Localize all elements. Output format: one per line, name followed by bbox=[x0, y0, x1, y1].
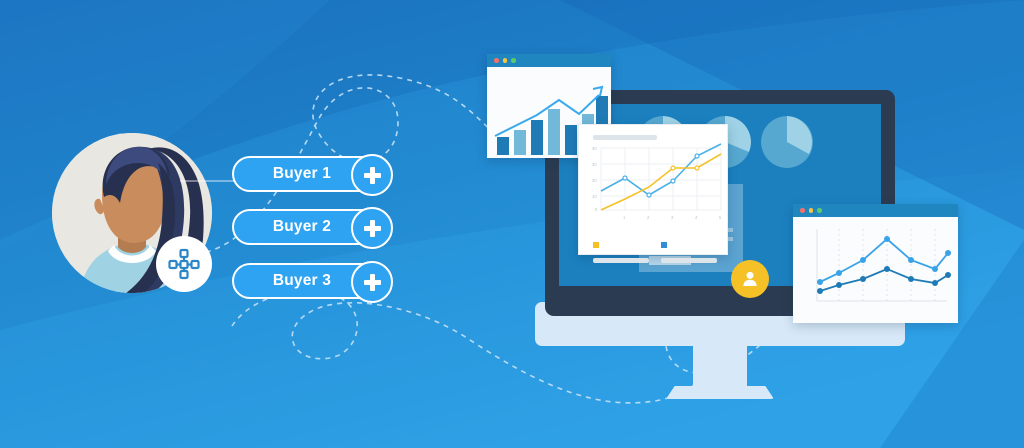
illustration-canvas: Buyer 1 Buyer 2 Buyer 3 bbox=[0, 0, 1024, 448]
minimize-dot-icon[interactable] bbox=[503, 58, 508, 63]
close-dot-icon[interactable] bbox=[800, 208, 805, 213]
svg-text:5: 5 bbox=[719, 215, 722, 220]
legend-item-1 bbox=[593, 235, 649, 263]
legend-item-2 bbox=[661, 235, 717, 263]
user-person-icon bbox=[740, 269, 760, 289]
arrow-up-right-icon bbox=[593, 87, 602, 96]
svg-text:20: 20 bbox=[592, 178, 597, 183]
y-axis-ticks: 4030 20100 bbox=[592, 146, 598, 212]
avatar bbox=[52, 133, 212, 293]
upper-series-points bbox=[817, 236, 951, 285]
maximize-dot-icon[interactable] bbox=[817, 208, 822, 213]
monitor-neck bbox=[693, 346, 747, 392]
svg-text:0: 0 bbox=[595, 207, 598, 212]
svg-text:2: 2 bbox=[647, 215, 650, 220]
line-chart-window: 4030 20100 123 45 bbox=[578, 124, 728, 255]
user-avatar-badge bbox=[731, 260, 769, 298]
scatter-line-chart bbox=[793, 217, 958, 323]
window-title-bar[interactable] bbox=[793, 204, 958, 217]
window-title-bar[interactable] bbox=[487, 54, 611, 67]
blue-series-line bbox=[601, 144, 721, 195]
add-buyer-button-3[interactable] bbox=[351, 261, 393, 303]
x-axis-ticks: 123 45 bbox=[623, 215, 722, 220]
maximize-dot-icon[interactable] bbox=[511, 58, 516, 63]
add-buyer-button-2[interactable] bbox=[351, 207, 393, 249]
scatter-line-chart-window bbox=[793, 204, 958, 323]
minimize-dot-icon[interactable] bbox=[809, 208, 814, 213]
line-chart: 4030 20100 123 45 bbox=[579, 140, 729, 226]
svg-text:10: 10 bbox=[592, 194, 597, 199]
svg-text:1: 1 bbox=[623, 215, 626, 220]
close-dot-icon[interactable] bbox=[494, 58, 499, 63]
svg-text:30: 30 bbox=[592, 162, 597, 167]
add-buyer-button-1[interactable] bbox=[351, 154, 393, 196]
svg-text:3: 3 bbox=[671, 215, 674, 220]
monitor-foot bbox=[666, 386, 774, 399]
buyer-pill-1[interactable]: Buyer 1 bbox=[232, 156, 384, 192]
network-badge bbox=[156, 236, 212, 292]
legend-label-placeholder bbox=[593, 258, 649, 263]
buyer-pill-2[interactable]: Buyer 2 bbox=[232, 209, 384, 245]
pie-chart-3 bbox=[761, 116, 813, 168]
svg-text:40: 40 bbox=[592, 146, 597, 151]
buyer-pill-3[interactable]: Buyer 3 bbox=[232, 263, 384, 299]
legend-label-placeholder bbox=[661, 258, 717, 263]
legend-swatch-blue bbox=[661, 242, 667, 248]
svg-text:4: 4 bbox=[695, 215, 698, 220]
chart-legend bbox=[579, 231, 727, 263]
legend-swatch-yellow bbox=[593, 242, 599, 248]
network-nodes-icon bbox=[167, 247, 201, 281]
